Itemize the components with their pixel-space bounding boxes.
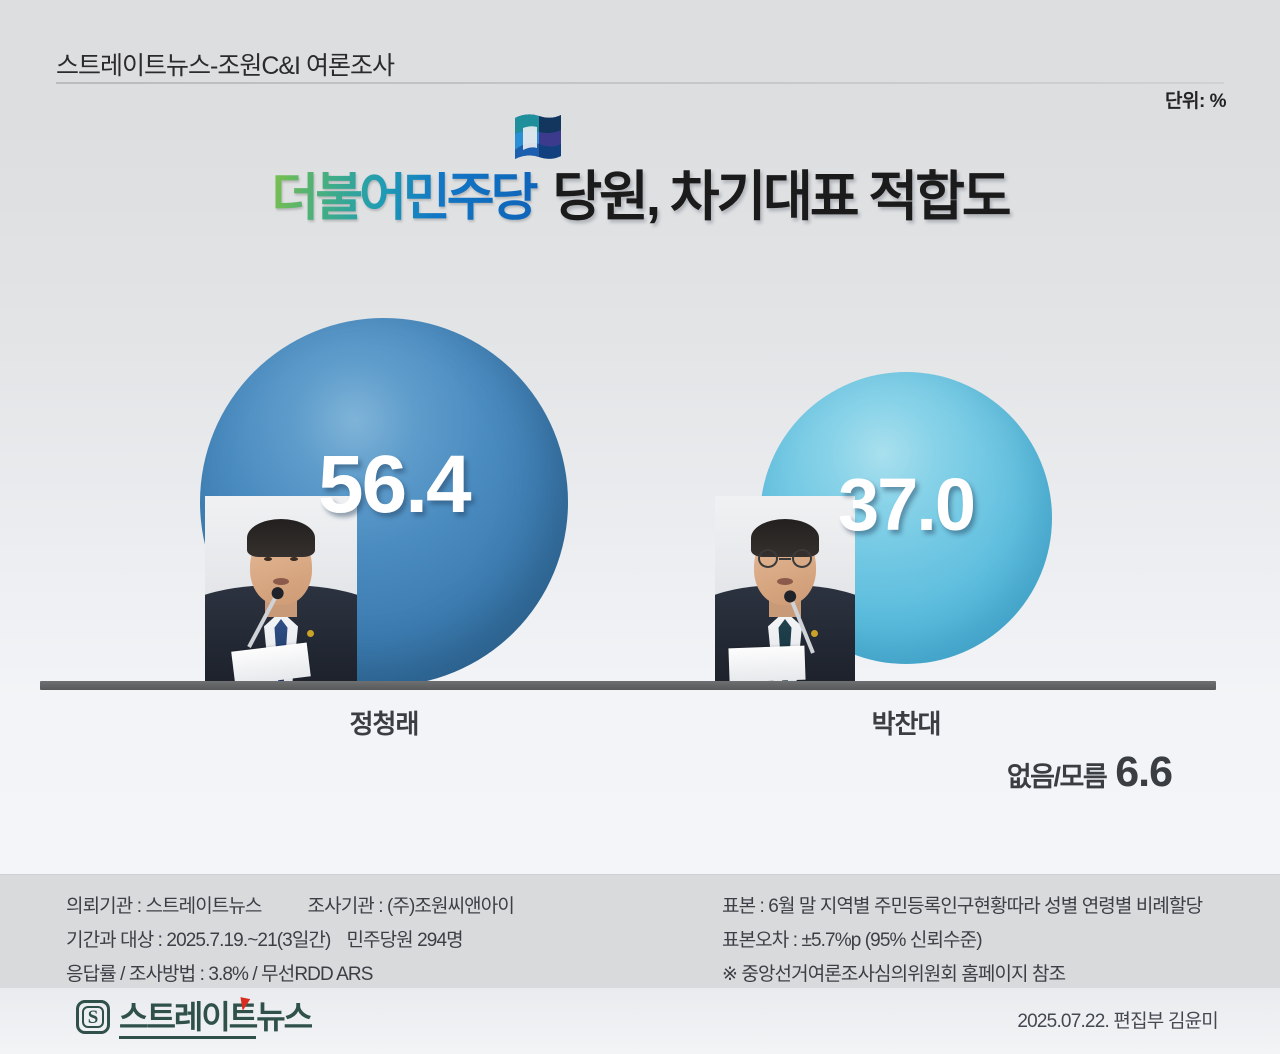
client-label: 의뢰기관 : 스트레이트뉴스 (66, 891, 262, 918)
none-dontknow-value: 6.6 (1115, 748, 1172, 797)
sample-label: 표본 : 6월 말 지역별 주민등록인구현황따라 성별 연령별 비례할당 (722, 891, 1202, 918)
none-dontknow-row: 없음/모름 6.6 (1007, 748, 1172, 797)
brand-s-mark-icon: S (76, 1000, 110, 1034)
methodology-line-client: 의뢰기관 : 스트레이트뉴스 조사기관 : (주)조원씨앤아이 (66, 891, 666, 918)
value-candidate-a: 56.4 (318, 444, 470, 526)
infographic-poster: 스트레이트뉴스-조원C&I 여론조사 단위: % 더불어민주당 당원, 차기대표… (0, 0, 1280, 1054)
agency-label: 조사기관 : (주)조원씨앤아이 (308, 891, 514, 918)
brand-logo[interactable]: S 스트레이트뉴스 (76, 1000, 311, 1034)
none-dontknow-label: 없음/모름 (1007, 755, 1106, 794)
brand-mark-letter: S (88, 1008, 99, 1027)
response-rate-label: 응답률 / 조사방법 : 3.8% / 무선RDD ARS (66, 959, 666, 986)
value-candidate-b: 37.0 (838, 468, 974, 542)
photo-candidate-b (715, 496, 855, 681)
methodology-right-column: 표본 : 6월 말 지역별 주민등록인구현황따라 성별 연령별 비례할당 표본오… (722, 891, 1202, 986)
label-candidate-b: 박찬대 (806, 704, 1006, 741)
brand-wordmark: 스트레이트뉴스 (119, 1001, 311, 1033)
methodology-left-column: 의뢰기관 : 스트레이트뉴스 조사기관 : (주)조원씨앤아이 기간과 대상 :… (66, 891, 666, 986)
reference-label: ※ 중앙선거여론조사심의위원회 홈페이지 참조 (722, 959, 1202, 986)
methodology-line-period: 기간과 대상 : 2025.7.19.~21(3일간) 민주당원 294명 (66, 925, 666, 952)
baseline-bar (40, 681, 1216, 690)
brand-bar: S 스트레이트뉴스 2025.07.22. 편집부 김윤미 (0, 988, 1280, 1054)
brand-name-main: 스트레이트 (119, 999, 256, 1039)
glasses-icon (758, 549, 812, 569)
period-label: 기간과 대상 : 2025.7.19.~21(3일간) (66, 925, 330, 952)
byline: 2025.07.22. 편집부 김윤미 (1017, 1006, 1218, 1033)
methodology-panel: 의뢰기관 : 스트레이트뉴스 조사기관 : (주)조원씨앤아이 기간과 대상 :… (0, 874, 1280, 988)
margin-of-error-label: 표본오차 : ±5.7%p (95% 신뢰수준) (722, 925, 1202, 952)
label-candidate-a: 정청래 (284, 704, 484, 741)
period-target: 민주당원 294명 (346, 925, 462, 952)
brand-name-sub: 뉴스 (256, 999, 311, 1035)
